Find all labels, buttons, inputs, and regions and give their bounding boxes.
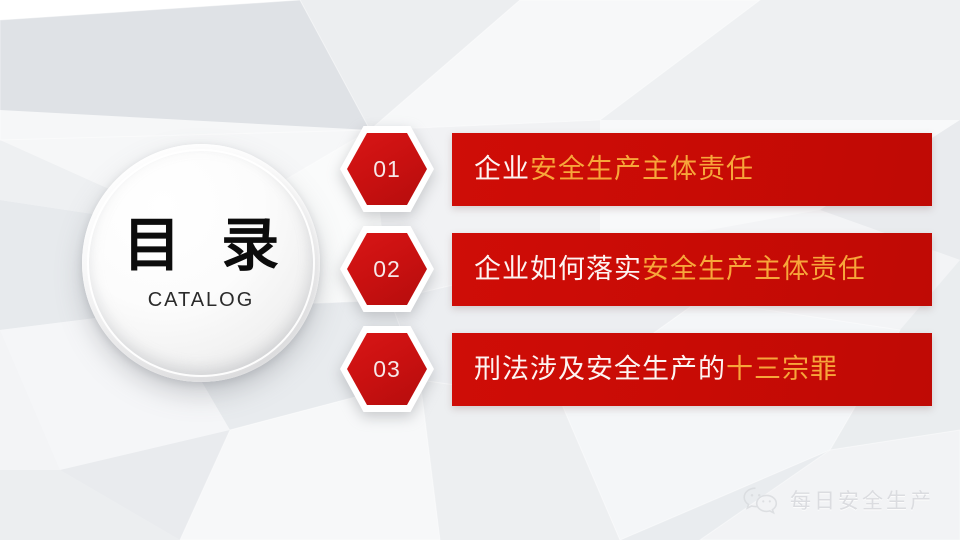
agenda-label-01-accent: 安全生产主体责任 [530, 154, 754, 185]
agenda-label-03-accent: 十三宗罪 [726, 354, 838, 385]
slide-canvas: 目 录 CATALOG 01 企业安全生产主体责任 02 [0, 0, 960, 540]
agenda-banner-02[interactable]: 企业如何落实安全生产主体责任 [452, 233, 932, 306]
agenda-label-03: 刑法涉及安全生产的十三宗罪 [452, 356, 838, 383]
watermark-text: 每日安全生产 [790, 491, 934, 512]
wechat-icon [742, 486, 780, 516]
agenda-number-02: 02 [373, 258, 401, 281]
hexagon-badge-03[interactable]: 03 [340, 326, 434, 412]
agenda-label-02-accent: 安全生产主体责任 [642, 254, 866, 285]
agenda-label-02-plain: 企业如何落实 [474, 254, 642, 285]
agenda-banner-01[interactable]: 企业安全生产主体责任 [452, 133, 932, 206]
hexagon-badge-02[interactable]: 02 [340, 226, 434, 312]
watermark: 每日安全生产 [742, 486, 934, 516]
agenda-number-03: 03 [373, 358, 401, 381]
agenda-number-01: 01 [373, 158, 401, 181]
agenda-item-01[interactable]: 01 企业安全生产主体责任 [340, 126, 940, 212]
page-title: 目 录 [113, 216, 289, 274]
agenda-banner-03[interactable]: 刑法涉及安全生产的十三宗罪 [452, 333, 932, 406]
hexagon-badge-01[interactable]: 01 [340, 126, 434, 212]
agenda-label-01: 企业安全生产主体责任 [452, 156, 754, 183]
page-subtitle: CATALOG [148, 290, 255, 310]
agenda-label-02: 企业如何落实安全生产主体责任 [452, 256, 866, 283]
agenda-item-03[interactable]: 03 刑法涉及安全生产的十三宗罪 [340, 326, 940, 412]
agenda-label-03-plain: 刑法涉及安全生产的 [474, 354, 726, 385]
agenda-item-02[interactable]: 02 企业如何落实安全生产主体责任 [340, 226, 940, 312]
agenda-label-01-plain: 企业 [474, 154, 530, 185]
